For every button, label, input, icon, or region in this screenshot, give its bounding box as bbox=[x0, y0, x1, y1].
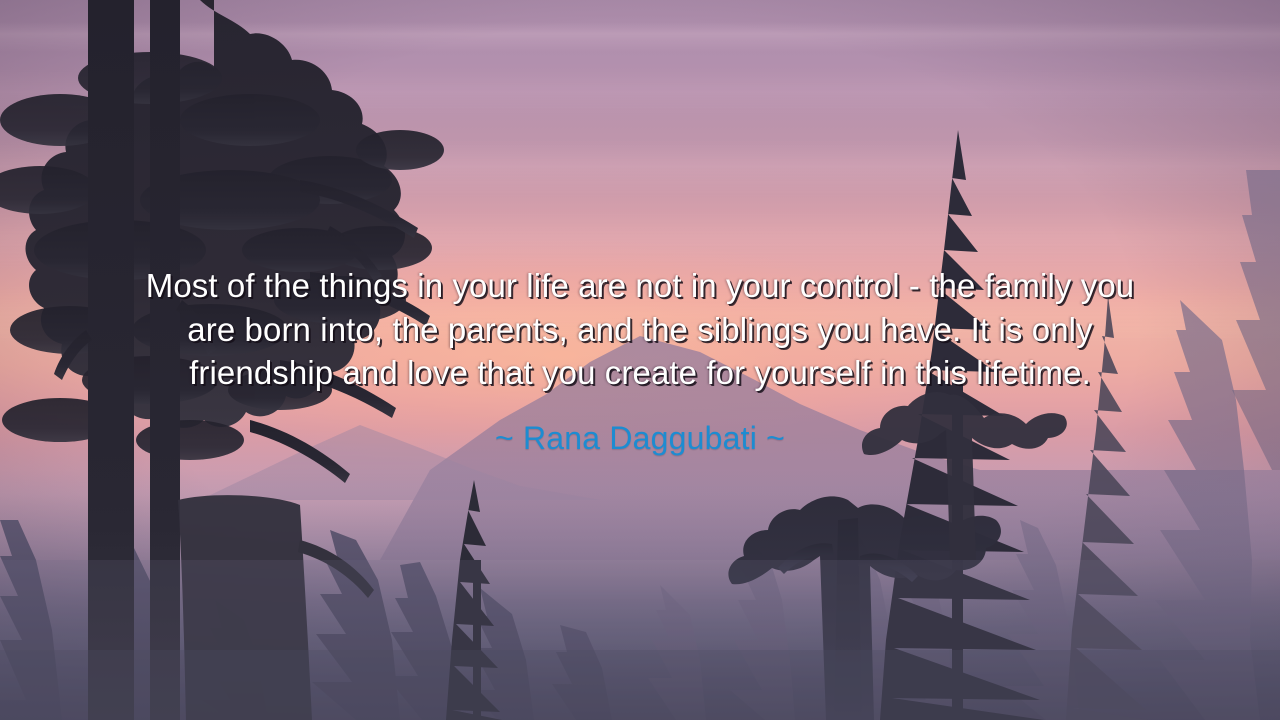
quote-text: Most of the things in your life are not … bbox=[140, 264, 1140, 395]
spreading-pine-right bbox=[728, 496, 1001, 720]
slender-conifer-left bbox=[446, 480, 502, 720]
quote-block: Most of the things in your life are not … bbox=[0, 264, 1280, 458]
quote-wallpaper: Most of the things in your life are not … bbox=[0, 0, 1280, 720]
author-attribution: ~ Rana Daggubati ~ bbox=[0, 418, 1280, 458]
foreground-trunk bbox=[178, 495, 374, 720]
mid-tree-band bbox=[0, 520, 612, 720]
